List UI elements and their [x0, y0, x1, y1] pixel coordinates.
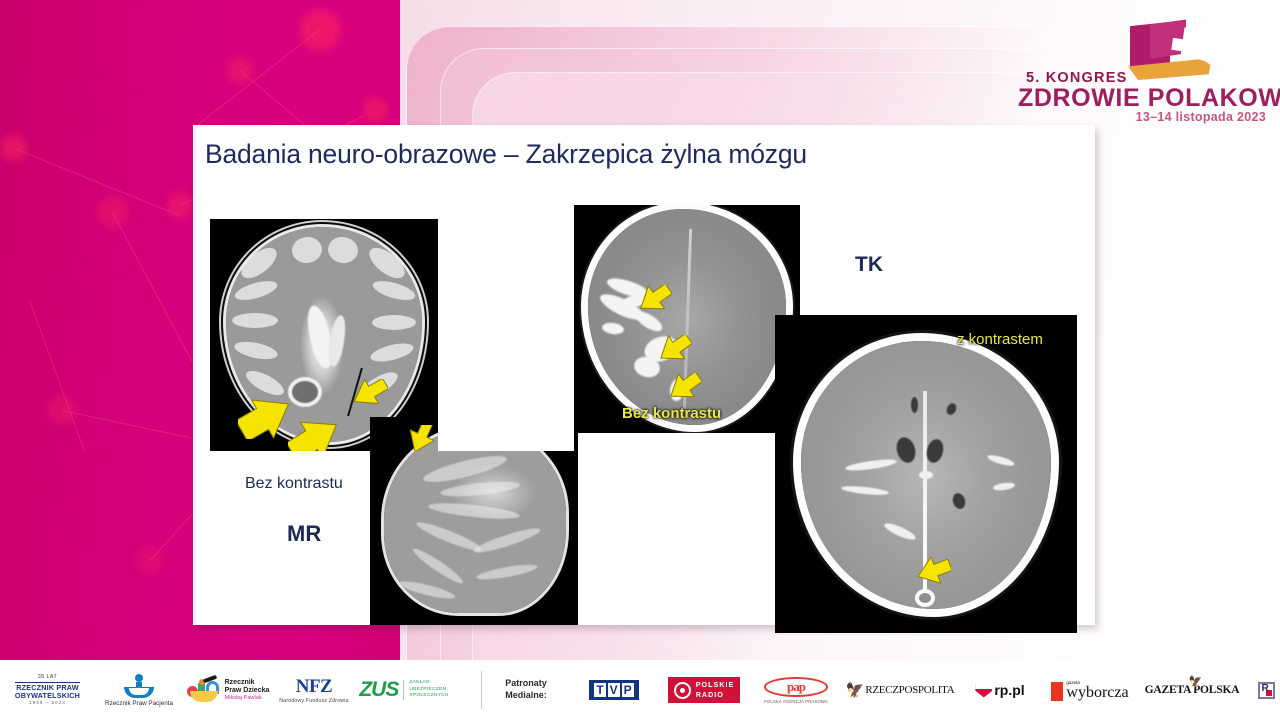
logo-r — [1246, 682, 1280, 699]
nfz-caption: Narodowy Fundusz Zdrowia — [279, 698, 348, 704]
pap-mark: pap — [764, 677, 828, 697]
rpo-years: 1988 – 2023 — [15, 700, 80, 705]
rpd-line2: Praw Dziecka — [225, 687, 270, 695]
ct-modality-label: TK — [855, 253, 883, 277]
patronaty-line1: Patronaty — [505, 678, 547, 690]
congress-logo-line3: 13–14 listopada 2023 — [1136, 110, 1266, 124]
mr-no-contrast-label: Bez kontrastu — [245, 475, 343, 493]
rzecznik-praw-pacjenta-icon — [122, 674, 156, 698]
logo-tvp: T V P — [570, 680, 658, 700]
patronaty-medialne-label: Patronaty Medialne: — [482, 678, 570, 701]
tvp-mark: T V P — [589, 680, 638, 700]
logo-zus: ZUS ZAKŁAD UBEZPIECZEŃ SPOŁECZNYCH — [355, 678, 453, 702]
pointer-arrow-icon — [350, 379, 388, 407]
pointer-arrow-icon — [666, 373, 702, 401]
logo-gazeta-polska: GAZETA POLSKA 🦅 — [1138, 684, 1246, 696]
pointer-arrow-icon — [238, 395, 294, 439]
tvp-letter-v: V — [608, 683, 620, 697]
logo-nfz: NFZ Narodowy Fundusz Zdrowia — [273, 676, 355, 704]
polskie-radio-line2: RADIO — [696, 690, 735, 700]
logo-rp-pl: rp.pl — [958, 682, 1042, 698]
logo-rzecznik-praw-obywatelskich: 35 LAT RZECZNIK PRAW OBYWATELSKICH 1988 … — [0, 675, 95, 705]
zus-sub3: SPOŁECZNYCH — [409, 693, 448, 700]
pointer-arrow-icon — [636, 285, 672, 313]
nfz-mark: NFZ — [279, 676, 348, 698]
ct-plain-image: Bez kontrastu — [574, 205, 800, 433]
logo-polskie-radio: POLSKIE RADIO — [658, 677, 750, 702]
polskie-radio-line1: POLSKIE — [696, 680, 735, 690]
radio-target-icon — [674, 682, 691, 699]
rpo-line2: OBYWATELSKICH — [15, 692, 80, 700]
ct-no-contrast-label: Bez kontrastu — [622, 405, 721, 422]
tk-label-panel — [800, 205, 1022, 318]
patronaty-line2: Medialne: — [505, 690, 547, 702]
slide-title: Badania neuro-obrazowe – Zakrzepica żyln… — [205, 139, 807, 170]
pointer-arrow-icon — [656, 335, 692, 363]
rpd-line3: Mikołaj Pawlak — [225, 695, 270, 701]
congress-logo-mark — [1120, 22, 1216, 80]
rp-pl-mark: rp.pl — [994, 682, 1024, 698]
zus-sub1: ZAKŁAD — [409, 680, 448, 687]
pointer-arrow-icon — [288, 417, 342, 451]
zus-mark: ZUS — [359, 678, 398, 702]
r-mark — [1258, 682, 1275, 699]
eagle-icon: 🦅 — [846, 683, 865, 698]
pointer-arrow-icon — [404, 425, 438, 451]
rpo-top-text: 35 LAT — [15, 675, 80, 681]
rpp-caption: Rzecznik Praw Pacjenta — [105, 700, 173, 707]
logo-rzecznik-praw-pacjenta: Rzecznik Praw Pacjenta — [95, 674, 183, 707]
ct-with-contrast-label: z kontrastem — [957, 331, 1043, 348]
presentation-slide: Badania neuro-obrazowe – Zakrzepica żyln… — [193, 125, 1095, 625]
logo-wyborcza: gazeta wyborcza — [1042, 680, 1138, 701]
skull-sagittal-render — [384, 427, 566, 613]
white-filler-panel-mid — [578, 451, 778, 625]
rzeczpospolita-mark: RZECZPOSPOLITA — [865, 684, 954, 696]
ct-contrast-image: z kontrastem — [775, 315, 1077, 633]
tvp-letter-p: P — [622, 683, 634, 697]
rp-flag-icon — [975, 683, 992, 698]
tvp-letter-t: T — [594, 683, 605, 697]
sponsor-bar: 35 LAT RZECZNIK PRAW OBYWATELSKICH 1988 … — [0, 660, 1280, 720]
wyborcza-mark: wyborcza — [1066, 685, 1128, 701]
network-line — [193, 29, 320, 128]
rzecznik-praw-dziecka-icon — [187, 677, 221, 703]
network-line — [14, 148, 181, 216]
pointer-arrow-icon — [915, 557, 951, 585]
rpd-line1: Rzecznik — [225, 679, 270, 687]
ventricle-right — [326, 314, 348, 368]
gazeta-polska-eagle-icon: 🦅 — [1189, 675, 1203, 688]
logo-rzecznik-praw-dziecka: Rzecznik Praw Dziecka Mikołaj Pawlak — [183, 677, 273, 703]
polskie-radio-mark: POLSKIE RADIO — [668, 677, 741, 702]
network-line — [29, 300, 85, 451]
white-filler-panel-left — [438, 219, 574, 451]
slide-stage: 5. KONGRES ZDROWIE POLAKOW 13–14 listopa… — [0, 0, 1280, 660]
logo-rzeczpospolita: 🦅 RZECZPOSPOLITA — [842, 683, 958, 698]
congress-logo: 5. KONGRES ZDROWIE POLAKOW 13–14 listopa… — [1018, 22, 1268, 108]
mr-modality-label: MR — [287, 521, 321, 547]
wyborcza-square-icon — [1051, 682, 1063, 701]
logo-pap: pap POLSKA AGENCJA PRASOWA — [750, 677, 842, 704]
congress-logo-line2: ZDROWIE POLAKOW — [1018, 84, 1280, 113]
empty-delta-sign — [915, 589, 935, 607]
pap-caption: POLSKA AGENCJA PRASOWA — [764, 699, 828, 704]
